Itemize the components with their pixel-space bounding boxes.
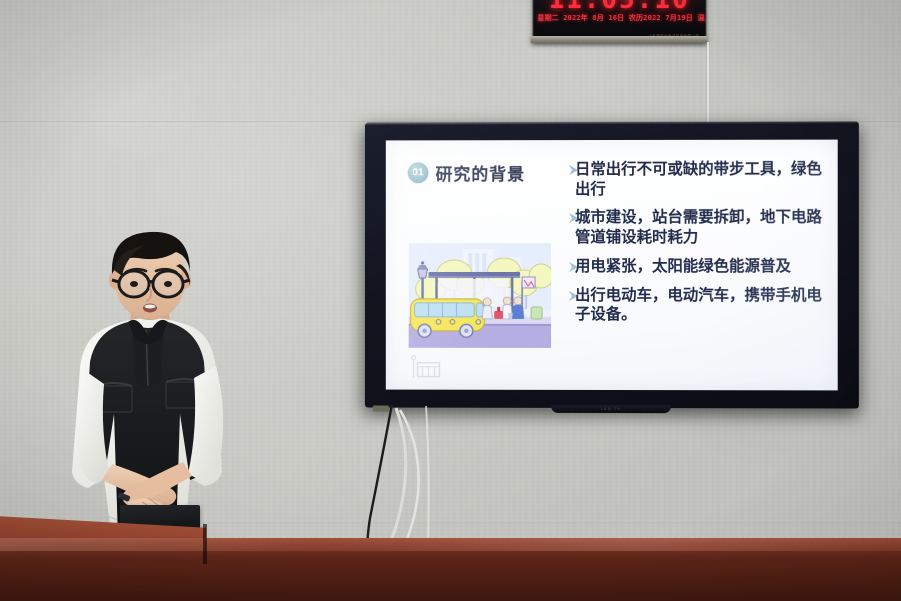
lectern-top-sheen	[0, 538, 901, 552]
bus-stop-illustration	[409, 243, 551, 348]
clock-mount-bracket	[531, 36, 707, 43]
bullet-text: 用电紧张，太阳能绿色能源普及	[575, 257, 791, 277]
list-item: 城市建设，站台需要拆卸，地下电路管道铺设耗时耗力	[568, 208, 830, 248]
tv-brand-logo: LED TV	[601, 406, 621, 411]
tv-cables	[330, 398, 590, 558]
section-number-badge: 01	[408, 162, 429, 183]
watermark-svg	[410, 354, 444, 380]
slide-title: 研究的背景	[436, 160, 526, 185]
presentation-slide: 01 研究的背景	[386, 140, 838, 391]
bullet-text: 城市建设，站台需要拆卸，地下电路管道铺设耗时耗力	[575, 208, 830, 248]
list-item: 出行电动车，电动汽车，携带手机电子设备。	[568, 286, 830, 326]
list-item: 用电紧张，太阳能绿色能源普及	[568, 257, 830, 277]
slide-watermark-icon	[410, 354, 444, 380]
wall-mounted-tv: LED TV 01 研究的背景	[365, 121, 859, 408]
bullet-text: 出行电动车，电动汽车，携带手机电子设备。	[575, 286, 830, 326]
list-item: 日常出行不可或缺的带步工具，绿色出行	[568, 160, 830, 200]
clock-date-display: 星期二 2022年 8月 16日 农历2022 7月19日 温度26℃	[537, 13, 701, 23]
slide-header: 01 研究的背景	[408, 160, 525, 185]
lectern-front-panel	[0, 558, 901, 601]
tv-screen[interactable]: 01 研究的背景	[386, 140, 838, 391]
lectern-desk	[0, 538, 901, 601]
lectern-seam	[203, 524, 207, 564]
classroom-scene: 11:05:10 星期二 2022年 8月 16日 农历2022 7月19日 温…	[0, 0, 901, 601]
slide-bullet-list: 日常出行不可或缺的带步工具，绿色出行 城市建设，站台需要拆卸，地下电路管道铺设耗…	[568, 160, 830, 335]
bus-stop-illustration-svg	[409, 243, 551, 348]
bullet-text: 日常出行不可或缺的带步工具，绿色出行	[575, 160, 830, 200]
tv-bezel-highlight	[365, 121, 859, 124]
